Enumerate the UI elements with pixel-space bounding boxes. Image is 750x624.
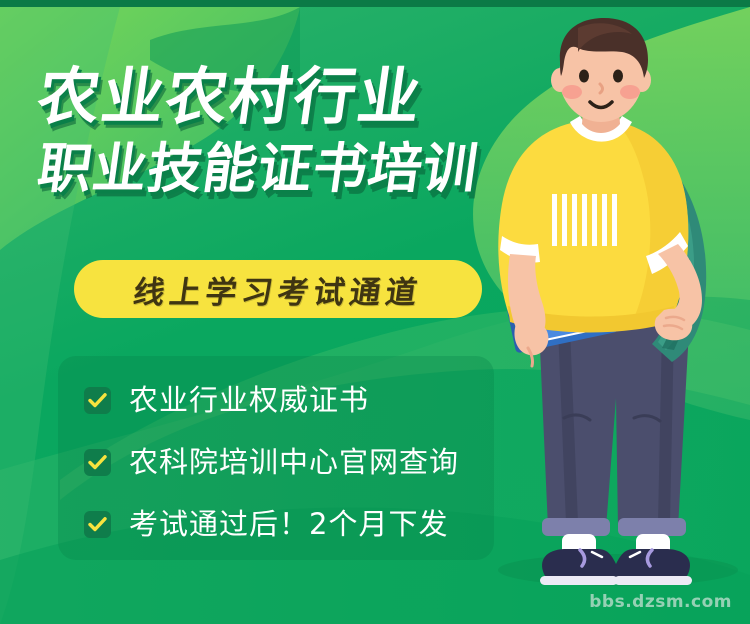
headline-block: 农业农村行业 职业技能证书培训 [38,66,478,196]
feature-label: 农科院培训中心官网查询 [129,448,459,477]
check-icon [84,387,111,414]
feature-card: 农业行业权威证书 农科院培训中心官网查询 考试通过后！2个月下发 [58,356,494,560]
list-item: 农业行业权威证书 [84,372,494,428]
list-item: 农科院培训中心官网查询 [84,434,494,490]
feature-label: 考试通过后！2个月下发 [129,510,448,539]
online-exam-pill-label: 线上学习考试通道 [131,267,425,312]
headline-line-1: 农业农村行业 [34,66,483,128]
poster-canvas: 农业农村行业 职业技能证书培训 线上学习考试通道 农业行业权威证书 农科院培训中… [0,0,750,624]
online-exam-pill[interactable]: 线上学习考试通道 [74,260,482,318]
feature-label: 农业行业权威证书 [129,386,369,415]
top-accent-strip [0,0,750,7]
check-icon [84,511,111,538]
headline-line-2: 职业技能证书培训 [34,142,482,196]
check-icon [84,449,111,476]
list-item: 考试通过后！2个月下发 [84,496,494,552]
site-watermark: bbs.dzsm.com [589,592,732,612]
student-character-illustration [466,18,750,618]
